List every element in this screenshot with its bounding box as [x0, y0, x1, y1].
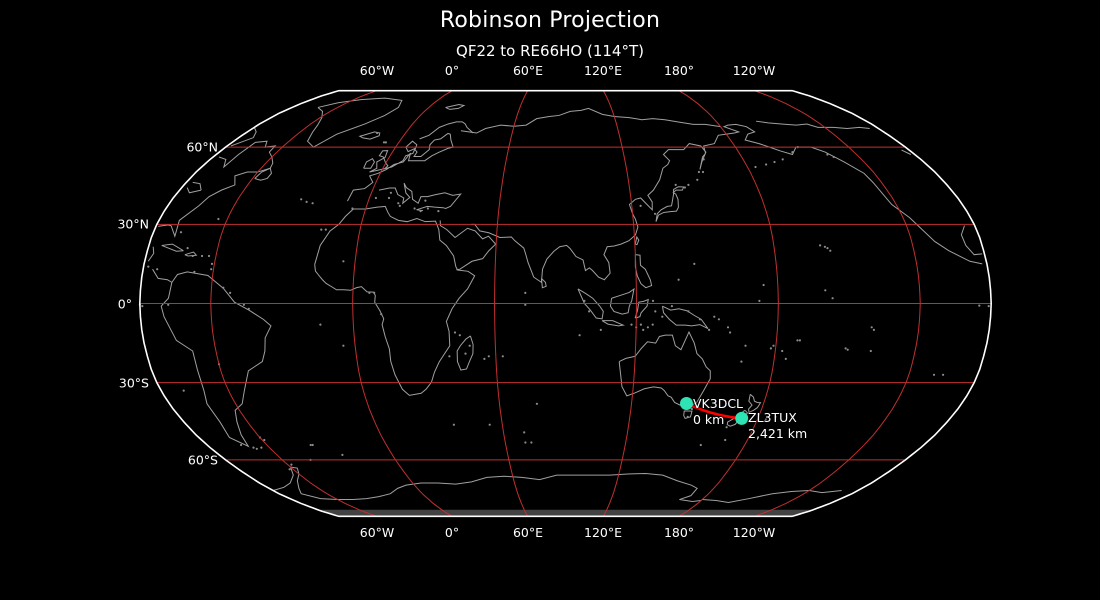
land-fill-layer: [139, 132, 990, 516]
lon-tick-label-bottom: 60°E: [513, 525, 543, 540]
station-distance-label: 2,421 km: [748, 426, 807, 441]
station-marker-zl3tux[interactable]: [735, 412, 748, 425]
lon-tick-label-bottom: 180°: [664, 525, 694, 540]
lat-tick-label: 60°S: [158, 453, 218, 468]
lon-tick-label-top: 60°W: [360, 63, 395, 78]
lon-tick-label-bottom: 0°: [445, 525, 459, 540]
lat-tick-label: 30°S: [89, 376, 149, 391]
world-map: [0, 0, 1100, 600]
station-marker-vk3dcl[interactable]: [680, 397, 693, 410]
lon-tick-label-top: 120°W: [733, 63, 775, 78]
lon-tick-label-top: 120°E: [584, 63, 622, 78]
lat-tick-label: 30°N: [89, 217, 149, 232]
lat-tick-label: 0°: [72, 297, 132, 312]
lon-tick-label-top: 180°: [664, 63, 694, 78]
lon-tick-label-bottom: 120°W: [733, 525, 775, 540]
lon-tick-label-top: 60°E: [513, 63, 543, 78]
lat-tick-label: 60°N: [158, 140, 218, 155]
map-window: Robinson Projection QF22 to RE66HO (114°…: [0, 0, 1100, 600]
station-callsign-label: VK3DCL: [693, 396, 743, 411]
station-callsign-label: ZL3TUX: [748, 410, 797, 425]
station-distance-label: 0 km: [693, 412, 724, 427]
lon-tick-label-bottom: 120°E: [584, 525, 622, 540]
coastlines-layer: [148, 98, 982, 502]
lon-tick-label-bottom: 60°W: [360, 525, 395, 540]
lon-tick-label-top: 0°: [445, 63, 459, 78]
graticule-layer: [140, 91, 991, 517]
